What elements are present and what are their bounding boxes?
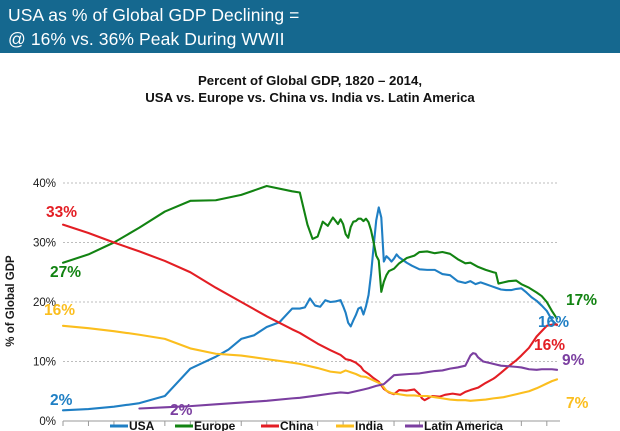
legend-label-latin-america[interactable]: Latin America <box>424 419 503 431</box>
legend-label-india[interactable]: India <box>355 419 383 431</box>
annotation-china-left: 33% <box>46 204 77 221</box>
annotation-usa-right: 16% <box>538 314 569 331</box>
value-annotations-group: 33%27%16%2%2%17%16%16%9%7% <box>44 204 597 419</box>
legend-label-usa[interactable]: USA <box>129 419 155 431</box>
header-banner: USA as % of Global GDP Declining = @ 16%… <box>0 0 620 53</box>
banner-line-2: @ 16% vs. 36% Peak During WWII <box>8 27 612 51</box>
y-axis-title: % of Global GDP <box>5 255 17 347</box>
annotation-india-right: 7% <box>566 395 589 412</box>
banner-line-1: USA as % of Global GDP Declining = <box>8 3 612 27</box>
y-tick-label: 10% <box>33 357 56 369</box>
annotation-china-right: 16% <box>534 337 565 354</box>
line-chart-plot: 0%10%20%30%40% 1820183018401850186018701… <box>0 53 620 431</box>
annotation-latin-america-left: 2% <box>170 402 193 419</box>
y-tick-label: 30% <box>33 238 56 250</box>
annotation-usa-left: 2% <box>50 392 73 409</box>
annotation-latin-america-right: 9% <box>562 352 585 369</box>
y-tick-label: 0% <box>39 416 56 428</box>
annotation-europe-left: 27% <box>50 264 81 281</box>
series-line-china <box>63 225 557 401</box>
legend-label-china[interactable]: China <box>280 419 314 431</box>
annotation-india-left: 16% <box>44 302 75 319</box>
chart-container: Percent of Global GDP, 1820 – 2014, USA … <box>0 53 620 431</box>
legend-label-europe[interactable]: Europe <box>194 419 236 431</box>
series-line-usa <box>63 207 557 410</box>
y-tick-label: 40% <box>33 178 56 190</box>
data-series-group <box>63 186 557 410</box>
series-line-india <box>63 326 557 401</box>
annotation-europe-right: 17% <box>566 292 597 309</box>
